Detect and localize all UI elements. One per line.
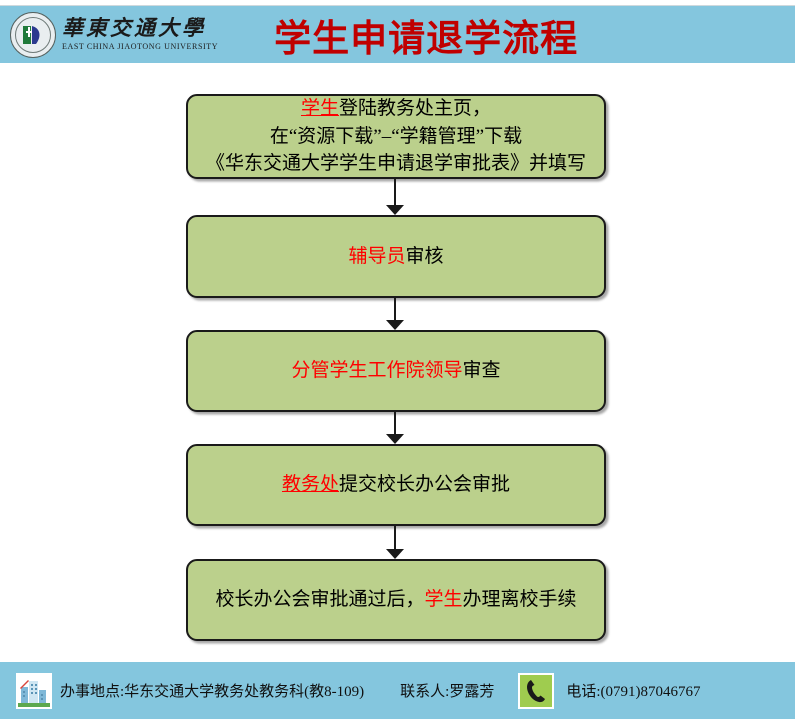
flow-text-segment: 校长办公会审批通过后， xyxy=(215,589,424,610)
flow-text-highlight: 辅导员 xyxy=(348,246,405,267)
flow-arrowhead-1-icon xyxy=(386,205,404,215)
page-title: 学生申请退学流程 xyxy=(274,8,578,62)
flow-node-line: 学生登陆教务处主页， xyxy=(301,95,491,123)
flow-node-leave-school-procedure: 校长办公会审批通过后，学生办理离校手续 xyxy=(186,559,606,641)
footer-location-text: 办事地点:华东交通大学教务处教务科(教8-109) xyxy=(60,680,364,701)
flow-node-line: 分管学生工作院领导审查 xyxy=(291,357,500,385)
flow-node-academic-affairs-submit: 教务处提交校长办公会审批 xyxy=(186,444,606,526)
flow-node-counselor-review: 辅导员审核 xyxy=(186,215,606,298)
flow-node-line: 在“资源下载”–“学籍管理”下载 xyxy=(270,123,522,151)
university-name-en: EAST CHINA JIAOTONG UNIVERSITY xyxy=(62,43,218,51)
flow-text-highlight: 学生 xyxy=(424,589,462,610)
flow-arrowhead-4-icon xyxy=(386,549,404,559)
page-footer: 办事地点:华东交通大学教务处教务科(教8-109) 联系人:罗露芳 电话:(07… xyxy=(0,661,795,719)
flow-node-college-leader-review: 分管学生工作院领导审查 xyxy=(186,330,606,412)
page-header: 華東交通大學 EAST CHINA JIAOTONG UNIVERSITY 学生… xyxy=(0,6,795,63)
flow-text-segment: 登陆教务处主页， xyxy=(339,98,491,119)
flow-text-segment: 在“资源下载”–“学籍管理”下载 xyxy=(270,126,522,147)
flow-node-line: 辅导员审核 xyxy=(348,243,443,271)
university-logo: 華東交通大學 EAST CHINA JIAOTONG UNIVERSITY xyxy=(10,12,218,58)
flow-connector-2 xyxy=(394,298,396,322)
flow-node-line: 教务处提交校长办公会审批 xyxy=(282,471,510,499)
university-name-cn: 華東交通大學 xyxy=(62,18,218,39)
flow-text-segment: 办理离校手续 xyxy=(463,589,577,610)
flow-connector-3 xyxy=(394,412,396,436)
university-seal-icon xyxy=(10,12,56,58)
flow-connector-4 xyxy=(394,526,396,551)
flow-text-highlight: 教务处 xyxy=(282,474,339,495)
flow-text-segment: 提交校长办公会审批 xyxy=(339,474,510,495)
phone-icon xyxy=(518,673,554,709)
flow-text-segment: 审查 xyxy=(463,360,501,381)
flow-node-line: 《华东交通大学学生申请退学审批表》并填写 xyxy=(206,150,586,178)
building-icon-glyph xyxy=(18,675,50,707)
flow-arrowhead-2-icon xyxy=(386,320,404,330)
flow-connector-1 xyxy=(394,179,396,207)
flow-node-download-form: 学生登陆教务处主页，在“资源下载”–“学籍管理”下载《华东交通大学学生申请退学审… xyxy=(186,94,606,179)
footer-phone-text: 电话:(0791)87046767 xyxy=(566,680,700,701)
footer-contact-text: 联系人:罗露芳 xyxy=(400,680,494,701)
phone-icon-glyph xyxy=(520,675,552,707)
flowchart: 学生登陆教务处主页，在“资源下载”–“学籍管理”下载《华东交通大学学生申请退学审… xyxy=(0,63,795,661)
flow-text-segment: 《华东交通大学学生申请退学审批表》并填写 xyxy=(206,153,586,174)
flow-text-highlight: 分管学生工作院领导 xyxy=(291,360,462,381)
seal-emblem-icon xyxy=(22,24,44,46)
building-icon xyxy=(16,673,52,709)
flow-text-segment: 审核 xyxy=(406,246,444,267)
flow-arrowhead-3-icon xyxy=(386,434,404,444)
university-name-block: 華東交通大學 EAST CHINA JIAOTONG UNIVERSITY xyxy=(62,18,218,51)
flow-node-line: 校长办公会审批通过后，学生办理离校手续 xyxy=(215,586,576,614)
flow-text-highlight: 学生 xyxy=(301,98,339,119)
